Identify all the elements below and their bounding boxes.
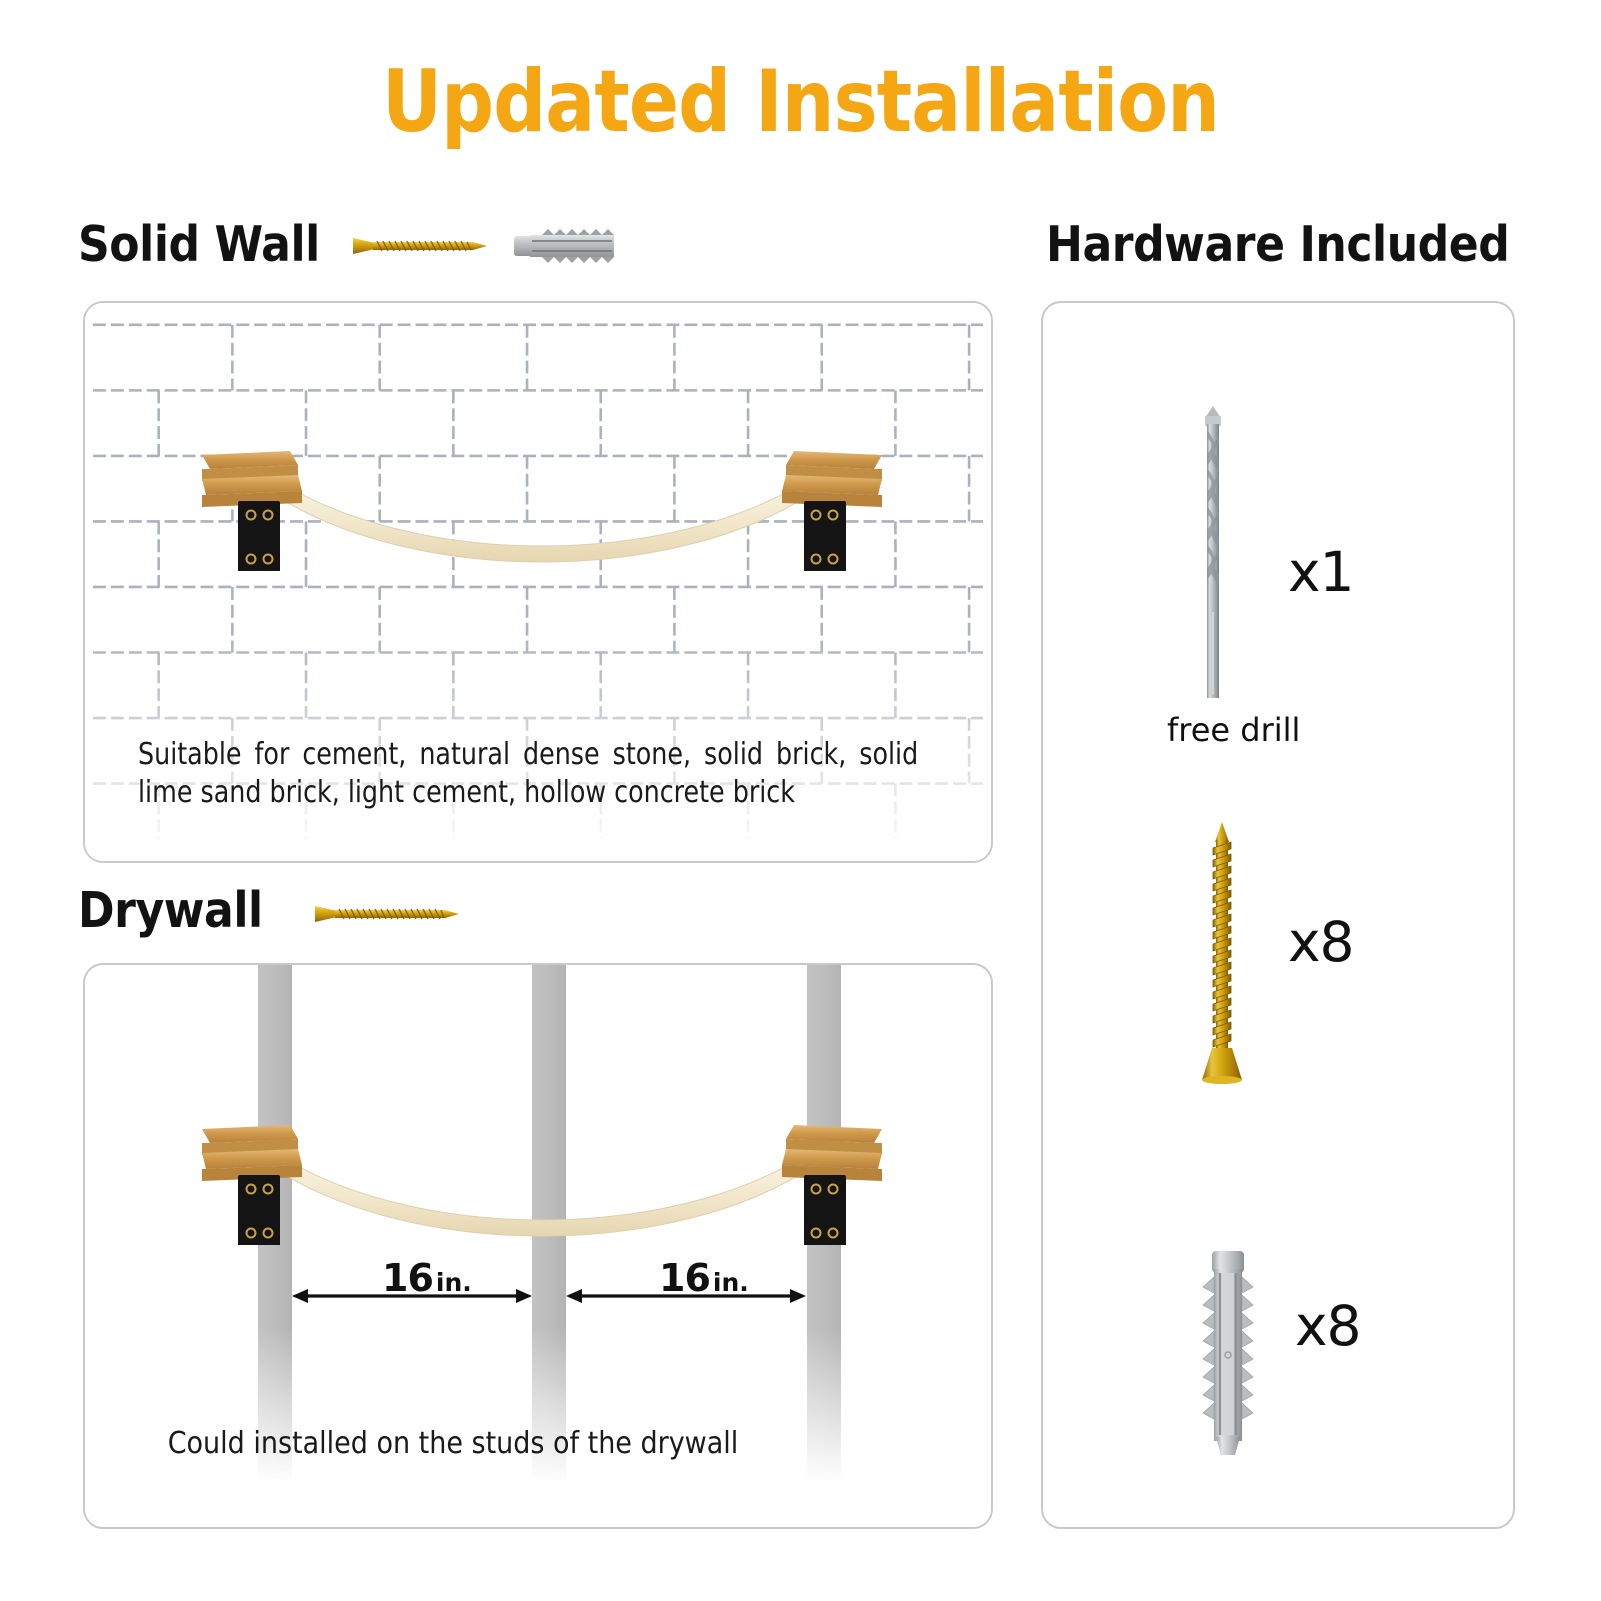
solid-wall-caption: Suitable for cement, natural dense stone… bbox=[138, 736, 918, 813]
solid-wall-heading: Solid Wall bbox=[78, 216, 320, 273]
hardware-heading: Hardware Included bbox=[1046, 216, 1509, 273]
cat-hammock-shelf-drywall bbox=[202, 1125, 882, 1245]
screw-icon bbox=[313, 897, 463, 931]
page-title: Updated Installation bbox=[112, 52, 1489, 152]
dimension-arrow-right bbox=[566, 1285, 806, 1307]
drill-quantity: x1 bbox=[1288, 540, 1354, 604]
wall-anchor-icon bbox=[512, 229, 622, 263]
screw-icon bbox=[351, 229, 491, 263]
drill-label: free drill bbox=[1167, 711, 1300, 749]
masonry-drill-bit-icon bbox=[1196, 406, 1230, 698]
cat-hammock-shelf-solid bbox=[202, 451, 882, 571]
hardware-panel bbox=[1041, 301, 1515, 1529]
drywall-heading: Drywall bbox=[78, 882, 263, 939]
screw-quantity: x8 bbox=[1288, 910, 1354, 974]
anchor-quantity: x8 bbox=[1295, 1294, 1361, 1358]
gold-screw-icon bbox=[1200, 822, 1244, 1084]
wall-anchor-icon bbox=[1199, 1249, 1257, 1459]
drywall-caption: Could installed on the studs of the dryw… bbox=[0, 1425, 906, 1463]
dimension-arrow-left bbox=[292, 1285, 532, 1307]
